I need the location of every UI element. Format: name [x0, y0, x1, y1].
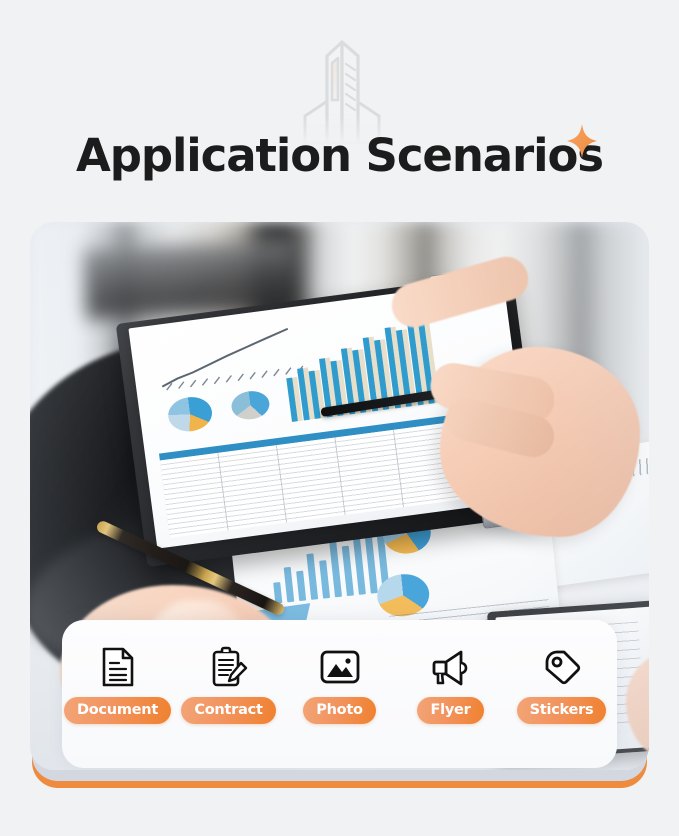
photo-report-pie-chart — [166, 394, 214, 433]
badge-item-contract[interactable]: Contract — [177, 646, 281, 724]
photo-hand-with-pen — [385, 252, 635, 552]
megaphone-icon — [430, 646, 472, 688]
badge-item-document[interactable]: Document — [66, 646, 170, 724]
scenario-photo-card: Document — [30, 222, 649, 770]
badge-label-document[interactable]: Document — [64, 697, 171, 724]
clipboard-pencil-icon — [208, 646, 250, 688]
badge-label-flyer[interactable]: Flyer — [417, 697, 483, 724]
badge-label-photo[interactable]: Photo — [303, 697, 376, 724]
sparkle-icon — [565, 122, 599, 160]
badge-item-stickers[interactable]: Stickers — [510, 646, 614, 724]
category-badge-row: Document — [62, 646, 617, 724]
badge-item-photo[interactable]: Photo — [288, 646, 392, 724]
badge-label-stickers[interactable]: Stickers — [517, 697, 607, 724]
badge-label-contract[interactable]: Contract — [181, 697, 275, 724]
content-card-stack: Document — [30, 222, 649, 788]
tag-icon — [541, 646, 583, 688]
photo-hand-thumb — [387, 252, 534, 333]
category-badge-panel: Document — [62, 620, 617, 768]
badge-item-flyer[interactable]: Flyer — [399, 646, 503, 724]
image-icon — [319, 646, 361, 688]
photo-report-pie-chart — [230, 389, 271, 422]
page-header: Application Scenarios — [0, 0, 679, 212]
document-icon — [97, 646, 139, 688]
